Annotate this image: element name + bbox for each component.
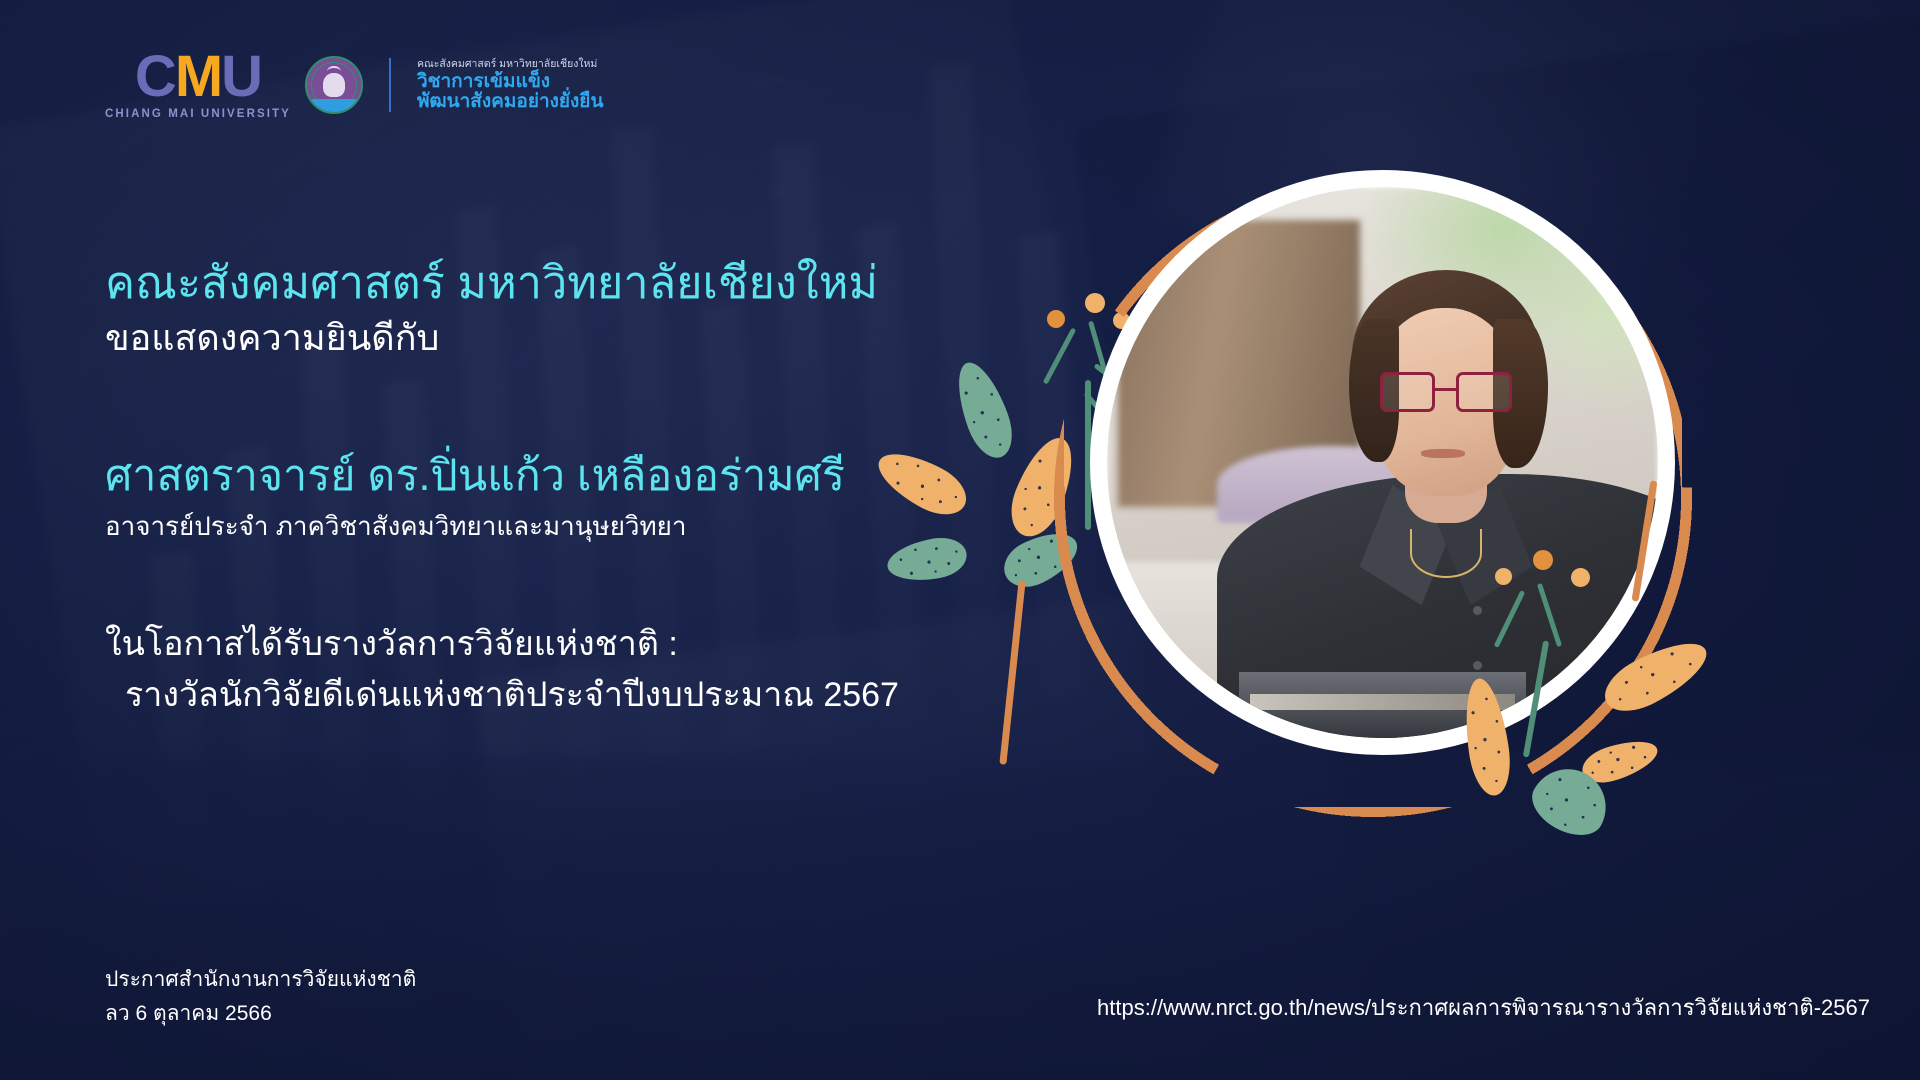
sprig-berry xyxy=(1571,568,1590,587)
cmu-logo: CMU CHIANG MAI UNIVERSITY xyxy=(105,50,291,120)
faculty-seal-icon xyxy=(305,56,363,114)
sprig-berry xyxy=(1495,568,1512,585)
seal-elephant-icon xyxy=(323,73,345,97)
footer-source: ประกาศสำนักงานการวิจัยแห่งชาติ ลว 6 ตุลา… xyxy=(105,963,416,1032)
cmu-wordmark-icon: CMU xyxy=(135,50,261,103)
slogan-line-1: วิชาการเข้มแข็ง xyxy=(417,72,603,91)
sprig-berry xyxy=(1047,310,1065,328)
footer-line-1: ประกาศสำนักงานการวิจัยแห่งชาติ xyxy=(105,963,416,998)
award-line-2: รางวัลนักวิจัยดีเด่นแห่งชาติประจำปีงบประ… xyxy=(105,673,1135,719)
congratulations-poster: 15000 10000 5000 CMU CHIANG MAI UNIVERSI… xyxy=(0,0,1920,1080)
headline-line-1: คณะสังคมศาสตร์ มหาวิทยาลัยเชียงใหม่ xyxy=(105,255,1135,311)
source-url-link[interactable]: https://www.nrct.go.th/news/ประกาศผลการพ… xyxy=(1097,990,1870,1025)
portrait-media-block xyxy=(1035,150,1735,850)
sprig-berry xyxy=(1085,293,1105,313)
cmu-letter-c: C xyxy=(135,50,175,103)
main-content: คณะสังคมศาสตร์ มหาวิทยาลัยเชียงใหม่ ขอแส… xyxy=(105,255,1135,719)
slogan-line-2: พัฒนาสังคมอย่างยั่งยืน xyxy=(417,92,603,111)
logo-divider xyxy=(389,58,391,112)
header-logo-lockup: CMU CHIANG MAI UNIVERSITY คณะสังคมศาสตร์… xyxy=(105,50,603,120)
cmu-letter-u: U xyxy=(221,50,261,103)
seal-ribbon-icon xyxy=(305,99,363,114)
footer-line-2: ลว 6 ตุลาคม 2566 xyxy=(105,997,416,1032)
honoree-name: ศาสตราจารย์ ดร.ปิ่นแก้ว เหลืองอร่ามศรี xyxy=(105,450,1135,504)
faculty-name-block: คณะสังคมศาสตร์ มหาวิทยาลัยเชียงใหม่ วิชา… xyxy=(417,59,603,110)
sprig-branch xyxy=(1043,327,1077,384)
award-line-1: ในโอกาสได้รับรางวัลการวิจัยแห่งชาติ : xyxy=(105,622,1135,668)
eyeglasses-icon xyxy=(1380,372,1512,413)
headline-line-2: ขอแสดงความยินดีกับ xyxy=(105,315,1135,362)
faculty-line: คณะสังคมศาสตร์ มหาวิทยาลัยเชียงใหม่ xyxy=(417,59,603,70)
honoree-position: อาจารย์ประจำ ภาควิชาสังคมวิทยาและมานุษยว… xyxy=(105,510,1135,544)
cmu-tagline: CHIANG MAI UNIVERSITY xyxy=(105,108,291,120)
honoree-portrait xyxy=(1107,187,1658,738)
cmu-letter-m: M xyxy=(175,50,221,103)
sprig-berry xyxy=(1533,550,1553,570)
